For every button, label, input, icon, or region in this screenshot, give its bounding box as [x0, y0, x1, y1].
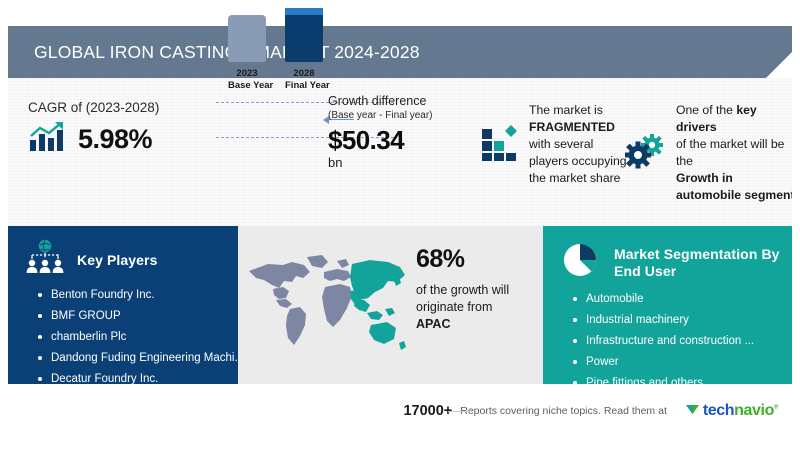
infographic-frame: GLOBAL IRON CASTINGS MARKET 2024-2028 CA… [8, 8, 792, 444]
header-banner: GLOBAL IRON CASTINGS MARKET 2024-2028 [8, 26, 792, 78]
technavio-wordmark: technavio® [703, 402, 778, 420]
bar-segment-base [285, 15, 323, 62]
list-item: BMF GROUP [38, 309, 238, 323]
key-players-panel: Key Players Benton Foundry Inc. BMF GROU… [8, 226, 238, 384]
squares-cluster-icon [478, 122, 518, 167]
list-item: Benton Foundry Inc. [38, 288, 238, 302]
fragmented-text: The market is FRAGMENTED with several pl… [529, 102, 627, 187]
bar-base-year [228, 15, 266, 62]
footer-report-count: 17000+ [403, 403, 452, 419]
list-item: Industrial machinery [573, 313, 792, 327]
key-players-title: Key Players [77, 252, 158, 269]
segmentation-title: Market Segmentation By End User [614, 246, 792, 280]
pie-chart-icon [559, 239, 603, 286]
org-chart-globe-icon [24, 239, 66, 282]
growth-difference-block: Growth difference (Base year - Final yea… [328, 94, 458, 170]
key-players-header: Key Players [8, 226, 238, 282]
bar-base-year-label: 2023 [236, 68, 257, 79]
bar-final-year-label: 2028 [293, 68, 314, 79]
drivers-line1: One of the [676, 103, 736, 117]
growth-subtitle: (Base year - Final year) [328, 109, 458, 122]
cagr-row: 5.98% [28, 121, 218, 158]
bar-base-caption: 2023 Base Year [228, 68, 266, 92]
list-item: Automobile [573, 292, 792, 306]
mid-section: Key Players Benton Foundry Inc. BMF GROU… [8, 226, 792, 384]
logo-navio-part: navio [734, 402, 774, 419]
fragmented-line1: The market is [529, 103, 603, 117]
key-drivers-text: One of the key drivers of the market wil… [676, 102, 792, 204]
apac-text-block: 68% of the growth will originate from AP… [416, 244, 536, 333]
list-item: Decatur Foundry Inc. [38, 372, 238, 386]
segmentation-panel: Market Segmentation By End User Automobi… [543, 226, 792, 384]
list-item: chamberlin Plc [38, 330, 238, 344]
drivers-bold3: automobile segment [676, 188, 792, 202]
apac-line2: originate from [416, 300, 492, 314]
growth-unit: bn [328, 155, 458, 170]
top-stats-band: CAGR of (2023-2028) 5.98% [8, 78, 792, 226]
technavio-triangle-icon [685, 401, 700, 421]
cagr-block: CAGR of (2023-2028) 5.98% [28, 100, 218, 158]
drivers-bold2: Growth in [676, 171, 733, 185]
gears-icon [624, 132, 666, 175]
world-map-icon [244, 250, 409, 362]
list-item: Infrastructure and construction ... [573, 334, 792, 348]
page-title: GLOBAL IRON CASTINGS MARKET 2024-2028 [8, 42, 420, 63]
bar-base-caption-label: Base Year [228, 80, 273, 91]
bar-final-year [285, 8, 323, 62]
fragmented-line3: players occupying [529, 154, 627, 168]
trademark-mark: ® [774, 405, 778, 411]
list-item: Power [573, 355, 792, 369]
cagr-value: 5.98% [78, 124, 152, 155]
apac-percent: 68% [416, 244, 536, 274]
infographic-root: GLOBAL IRON CASTINGS MARKET 2024-2028 CA… [0, 0, 800, 450]
key-drivers-block: One of the key drivers of the market wil… [624, 102, 792, 204]
bar-comparison-chart: 2023 Base Year 2028 Final Year [223, 92, 343, 202]
bar-segment-growth [285, 8, 323, 15]
apac-line1: of the growth will [416, 283, 509, 297]
segmentation-header: Market Segmentation By End User [543, 226, 792, 286]
region-panel: 68% of the growth will originate from AP… [238, 226, 543, 384]
logo-tech-part: tech [703, 402, 734, 419]
growth-title: Growth difference [328, 94, 458, 109]
fragmented-market-block: The market is FRAGMENTED with several pl… [478, 102, 633, 187]
fragmented-line4: the market share [529, 171, 620, 185]
technavio-logo[interactable]: technavio® [685, 401, 778, 421]
bar-final-caption-label: Final Year [285, 80, 330, 91]
list-item: Pipe fittings and others [573, 376, 792, 390]
bar-chart-growth-icon [28, 121, 68, 158]
key-players-list: Benton Foundry Inc. BMF GROUP chamberlin… [8, 288, 238, 386]
list-item: Dandong Fuding Engineering Machi... [38, 351, 238, 365]
segmentation-list: Automobile Industrial machinery Infrastr… [543, 292, 792, 390]
bar-final-caption: 2028 Final Year [285, 68, 323, 92]
fragmented-line2: with several [529, 137, 593, 151]
footer: 17000+ Reports covering niche topics. Re… [8, 390, 792, 432]
apac-description: of the growth will originate from APAC [416, 282, 536, 333]
cagr-label: CAGR of (2023-2028) [28, 100, 218, 115]
footer-tagline: Reports covering niche topics. Read them… [460, 405, 667, 417]
apac-region-name: APAC [416, 317, 451, 331]
footer-divider [448, 411, 470, 412]
fragmented-highlight: FRAGMENTED [529, 120, 615, 134]
growth-value: $50.34 [328, 125, 458, 155]
drivers-line2: of the market will be the [676, 137, 784, 168]
